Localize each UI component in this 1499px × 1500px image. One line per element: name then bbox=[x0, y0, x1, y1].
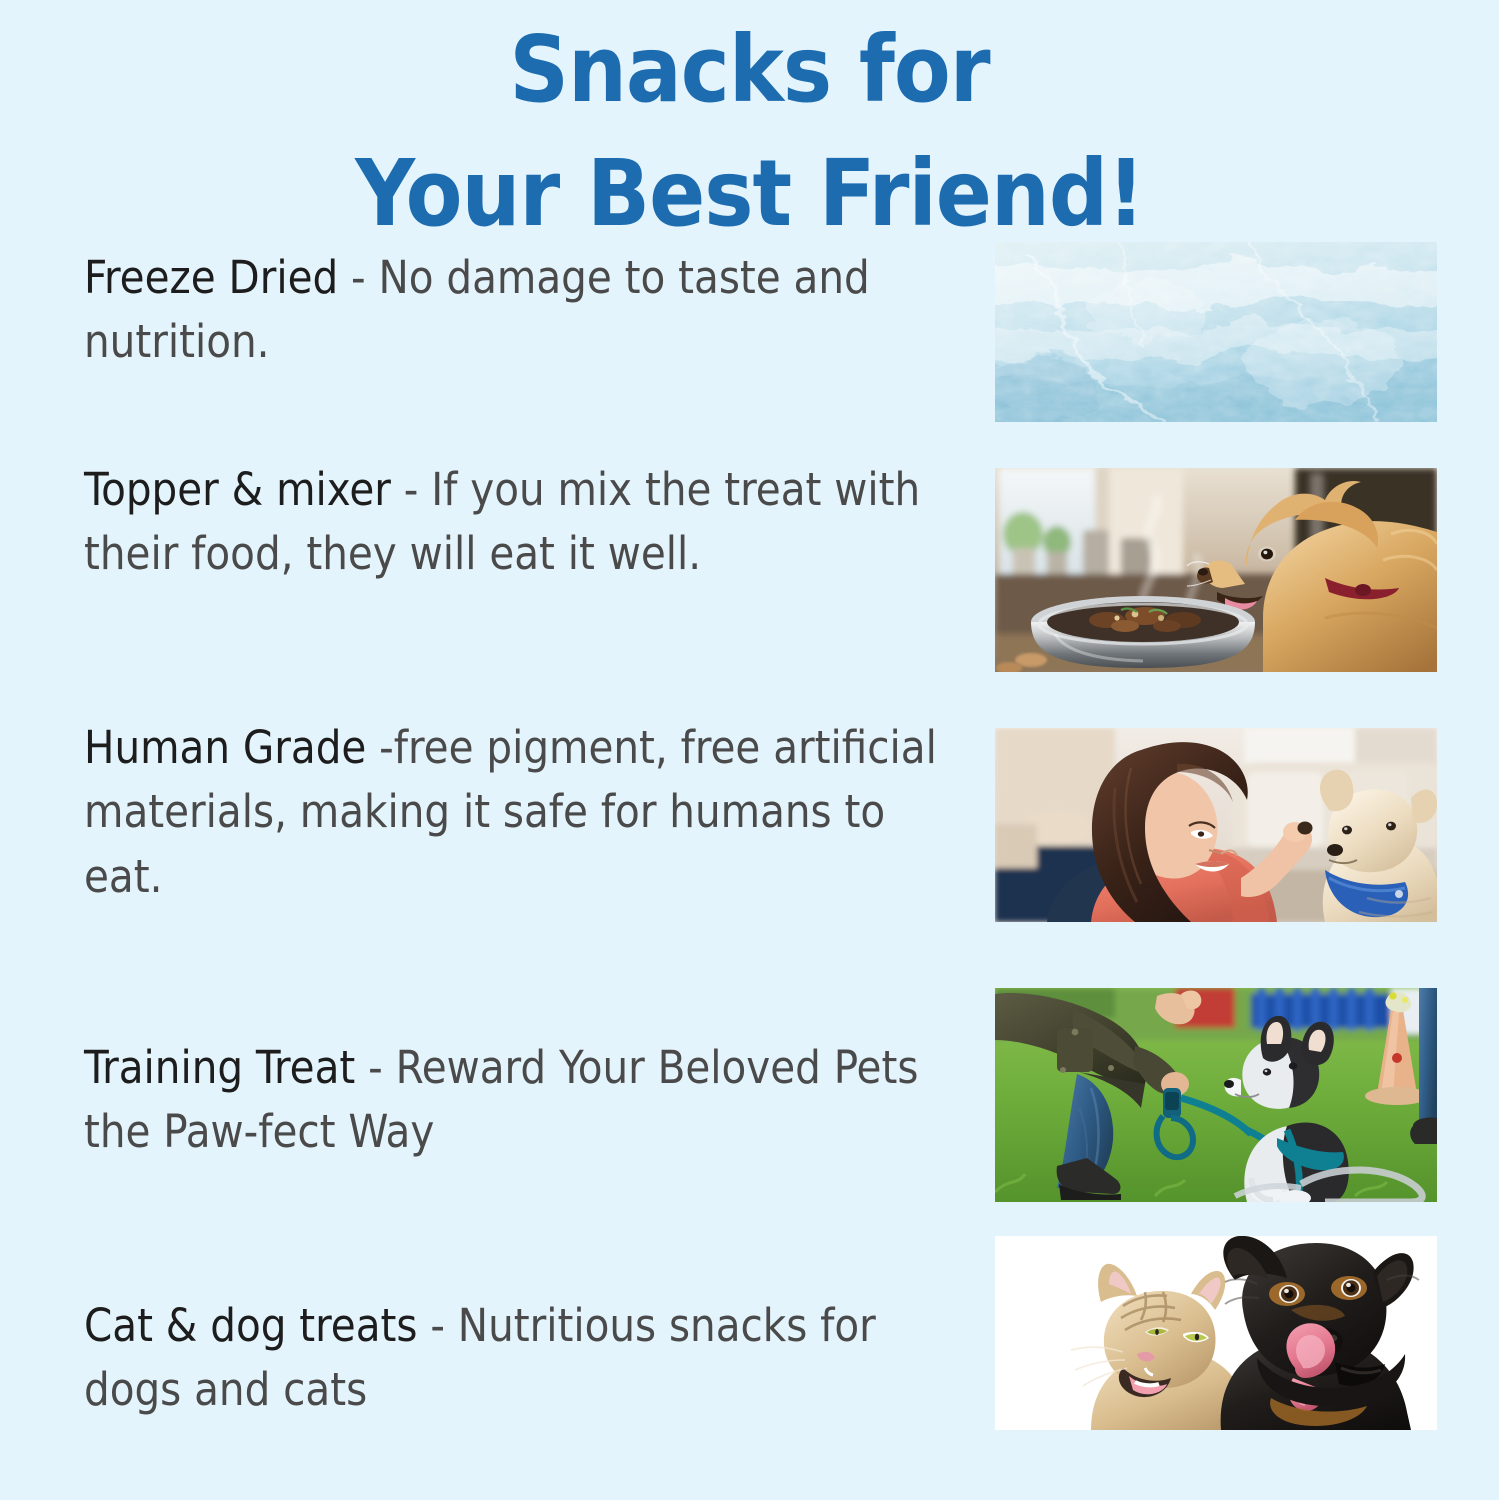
page-title: Snacks for Your Best Friend! bbox=[0, 8, 1499, 256]
feature-image-training-puppy bbox=[995, 988, 1437, 1202]
infographic-page: Snacks for Your Best Friend! Freeze Drie… bbox=[0, 0, 1499, 1500]
husky-puppy-training-icon bbox=[995, 988, 1437, 1202]
feature-image-cat-and-dog bbox=[995, 1236, 1437, 1430]
feature-lead: Cat & dog treats bbox=[84, 1299, 417, 1352]
feature-lead: Training Treat bbox=[84, 1041, 355, 1094]
cat-and-dog-icon bbox=[995, 1236, 1437, 1430]
title-line-2: Your Best Friend! bbox=[0, 132, 1499, 256]
feature-text: Freeze Dried - No damage to taste and nu… bbox=[84, 246, 964, 375]
feature-text: Cat & dog treats - Nutritious snacks for… bbox=[84, 1294, 964, 1423]
feature-image-woman-feeding-puppy bbox=[995, 728, 1437, 922]
feature-lead: Topper & mixer bbox=[84, 463, 391, 516]
feature-text: Topper & mixer - If you mix the treat wi… bbox=[84, 458, 964, 587]
title-line-1: Snacks for bbox=[0, 8, 1499, 132]
feature-image-dog-with-bowl bbox=[995, 468, 1437, 672]
feature-text: Human Grade -free pigment, free artifici… bbox=[84, 716, 964, 909]
feature-lead: Human Grade bbox=[84, 721, 366, 774]
feature-image-ice-texture bbox=[995, 242, 1437, 422]
golden-retriever-bowl-icon bbox=[995, 468, 1437, 672]
feature-lead: Freeze Dried bbox=[84, 251, 338, 304]
feature-text: Training Treat - Reward Your Beloved Pet… bbox=[84, 1036, 964, 1165]
woman-feeding-puppy-icon bbox=[995, 728, 1437, 922]
ice-texture-icon bbox=[995, 242, 1437, 422]
